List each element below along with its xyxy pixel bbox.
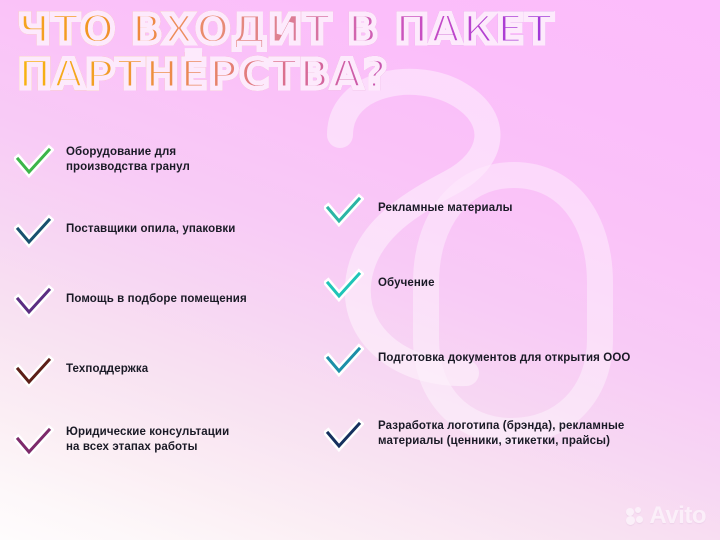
list-item: Помощь в подборе помещения bbox=[14, 283, 314, 323]
avito-wordmark: Avito bbox=[649, 504, 706, 528]
title-line-2: ПАРТНЁРСТВА? bbox=[18, 53, 578, 98]
list-item: Поставщики опила, упаковки bbox=[14, 213, 314, 253]
list-item: Рекламные материалы bbox=[324, 192, 714, 232]
list-item: Обучение bbox=[324, 267, 714, 307]
checkmark-icon bbox=[324, 342, 364, 382]
list-item: Подготовка документов для открытия ООО bbox=[324, 342, 714, 382]
checkmark-icon bbox=[324, 267, 364, 307]
checkmark-icon bbox=[14, 213, 54, 253]
feature-list-left: Оборудование для производства гранул Пос… bbox=[14, 143, 314, 493]
list-item-label: Подготовка документов для открытия ООО bbox=[378, 342, 630, 366]
list-item: Техподдержка bbox=[14, 353, 314, 393]
list-item-label: Помощь в подборе помещения bbox=[66, 283, 247, 307]
avito-dots-icon bbox=[626, 507, 646, 525]
checkmark-icon bbox=[14, 143, 54, 183]
list-item-label: Техподдержка bbox=[66, 353, 148, 377]
title-line-1: ЧТО ВХОДИТ В ПАКЕТ bbox=[18, 8, 578, 53]
checkmark-icon bbox=[14, 423, 54, 463]
list-item-label: Поставщики опила, упаковки bbox=[66, 213, 235, 237]
checkmark-icon bbox=[14, 353, 54, 393]
list-item-label: Рекламные материалы bbox=[378, 192, 513, 216]
slide-canvas: ЧТО ВХОДИТ В ПАКЕТ ПАРТНЁРСТВА? Оборудов… bbox=[0, 0, 720, 540]
feature-list-right: Рекламные материалы Обучение Подготовка … bbox=[324, 192, 714, 492]
list-item-label: Оборудование для производства гранул bbox=[66, 143, 190, 174]
avito-watermark: Avito bbox=[626, 504, 706, 528]
list-item: Юридические консультации на всех этапах … bbox=[14, 423, 314, 463]
list-item: Оборудование для производства гранул bbox=[14, 143, 314, 183]
checkmark-icon bbox=[14, 283, 54, 323]
page-title: ЧТО ВХОДИТ В ПАКЕТ ПАРТНЁРСТВА? bbox=[18, 8, 578, 98]
list-item-label: Юридические консультации на всех этапах … bbox=[66, 423, 229, 454]
list-item-label: Обучение bbox=[378, 267, 435, 291]
checkmark-icon bbox=[324, 417, 364, 457]
list-item: Разработка логотипа (брэнда), рекламные … bbox=[324, 417, 714, 457]
list-item-label: Разработка логотипа (брэнда), рекламные … bbox=[378, 417, 670, 448]
checkmark-icon bbox=[324, 192, 364, 232]
